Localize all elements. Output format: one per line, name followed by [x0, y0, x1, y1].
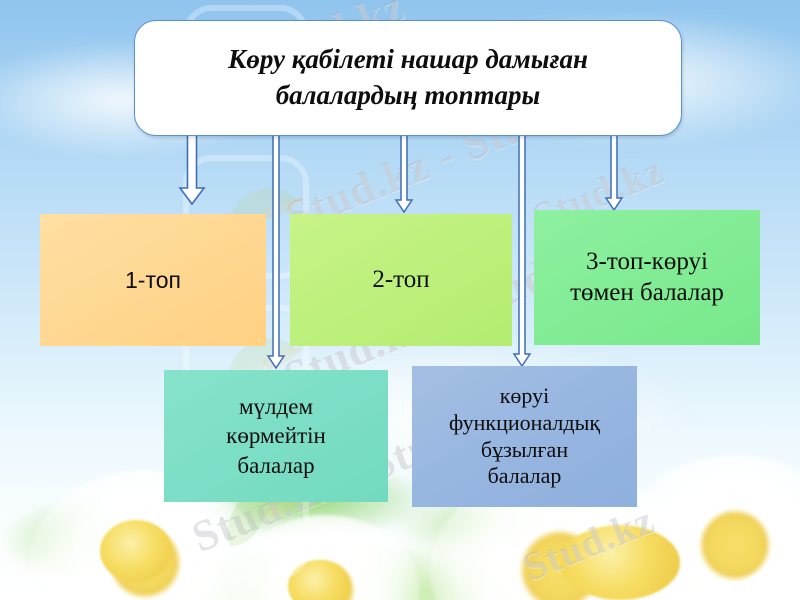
group-box-5-line-4: балалар	[418, 463, 631, 490]
group-box-5-line-2: функционалдық	[418, 410, 631, 437]
group-box-3-line-1: 3-топ-көруі	[540, 247, 754, 278]
title-line-1: Көру қабілеті нашар дамыған	[228, 42, 588, 78]
title-line-2: балалардың топтары	[228, 78, 588, 114]
page-title: Көру қабілеті нашар дамыған балалардың т…	[210, 42, 606, 113]
group-box-3-label: 3-топ-көруі төмен балалар	[534, 247, 760, 308]
daisy-center	[100, 520, 172, 582]
group-box-5: көруі функционалдық бұзылған балалар	[412, 366, 637, 507]
daisy-center	[560, 525, 680, 600]
group-box-5-label: көруі функционалдық бұзылған балалар	[412, 383, 637, 490]
slide-canvas: Stud.kz Stud.kz - Stud.kz Stud.kz - Stud…	[0, 0, 800, 600]
group-box-1-label: 1-топ	[40, 266, 266, 295]
group-box-4-line-1: мүлдем	[170, 392, 382, 421]
group-box-1: 1-топ	[40, 214, 266, 346]
group-box-5-line-1: көруі	[418, 383, 631, 410]
group-box-5-line-3: бұзылған	[418, 437, 631, 464]
group-box-3-line-2: төмен балалар	[540, 278, 754, 309]
group-box-2: 2-топ	[290, 214, 512, 346]
group-box-3: 3-топ-көруі төмен балалар	[534, 210, 760, 345]
group-box-4-line-3: балалар	[170, 451, 382, 480]
group-box-4-label: мүлдем көрмейтін балалар	[164, 392, 388, 480]
title-box: Көру қабілеті нашар дамыған балалардың т…	[134, 20, 682, 136]
group-box-2-label: 2-топ	[290, 264, 512, 295]
group-box-4: мүлдем көрмейтін балалар	[164, 370, 388, 502]
group-box-4-line-2: көрмейтін	[170, 421, 382, 450]
